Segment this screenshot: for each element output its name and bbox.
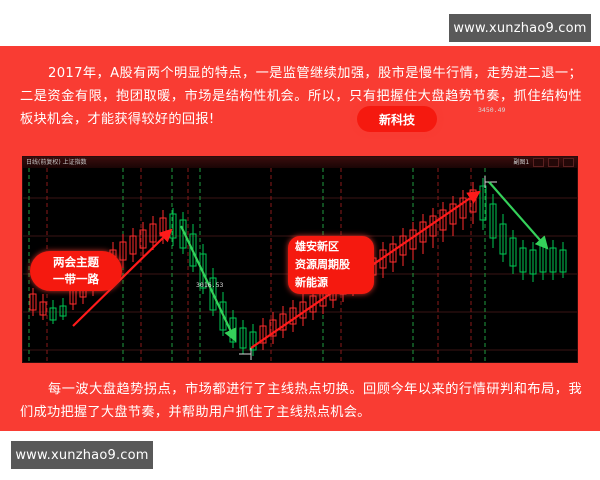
paragraph-bottom: 每一波大盘趋势拐点，市场都进行了主线热点切换。回顾今年以来的行情研判和布局，我们… — [20, 378, 582, 424]
chart-subtitle-label: 副图1 — [513, 159, 529, 166]
poster-body: 2017年，A股有两个明显的特点，一是监管继续加强，股市是慢牛行情，走势进二退一… — [0, 46, 600, 431]
watermark-top: www.xunzhao9.com — [449, 14, 591, 42]
annotation-two-sessions-line2: 一带一路 — [53, 271, 99, 288]
close-icon[interactable] — [563, 158, 574, 167]
annotation-bubble-xiongan: 雄安新区 资源周期股 新能源 — [288, 236, 374, 294]
annotation-bubble-tech: 新科技 — [357, 106, 437, 132]
annotation-xiongan-line2: 资源周期股 — [295, 256, 374, 274]
minimize-icon[interactable] — [533, 158, 544, 167]
maximize-icon[interactable] — [548, 158, 559, 167]
watermark-bottom: www.xunzhao9.com — [11, 441, 153, 469]
annotation-bubble-two-sessions: 两会主题 一带一路 — [30, 251, 122, 291]
price-label-low: 3016.53 — [196, 281, 223, 289]
price-label-high: 3450.49 — [478, 106, 505, 114]
annotation-tech-line1: 新科技 — [379, 111, 415, 128]
annotation-two-sessions-line1: 两会主题 — [53, 254, 99, 271]
chart-titlebar-controls[interactable]: 副图1 — [513, 157, 574, 168]
annotation-xiongan-line3: 新能源 — [295, 274, 374, 292]
chart-title-label: 日线(前复权) 上证指数 — [26, 157, 87, 168]
chart-titlebar: 日线(前复权) 上证指数 副图1 — [23, 157, 577, 168]
downtrend-arrow-2 — [489, 182, 547, 248]
paragraph-top: 2017年，A股有两个明显的特点，一是监管继续加强，股市是慢牛行情，走势进二退一… — [20, 62, 582, 131]
annotation-xiongan-line1: 雄安新区 — [295, 238, 374, 256]
poster-page: www.xunzhao9.com 2017年，A股有两个明显的特点，一是监管继续… — [0, 0, 600, 480]
